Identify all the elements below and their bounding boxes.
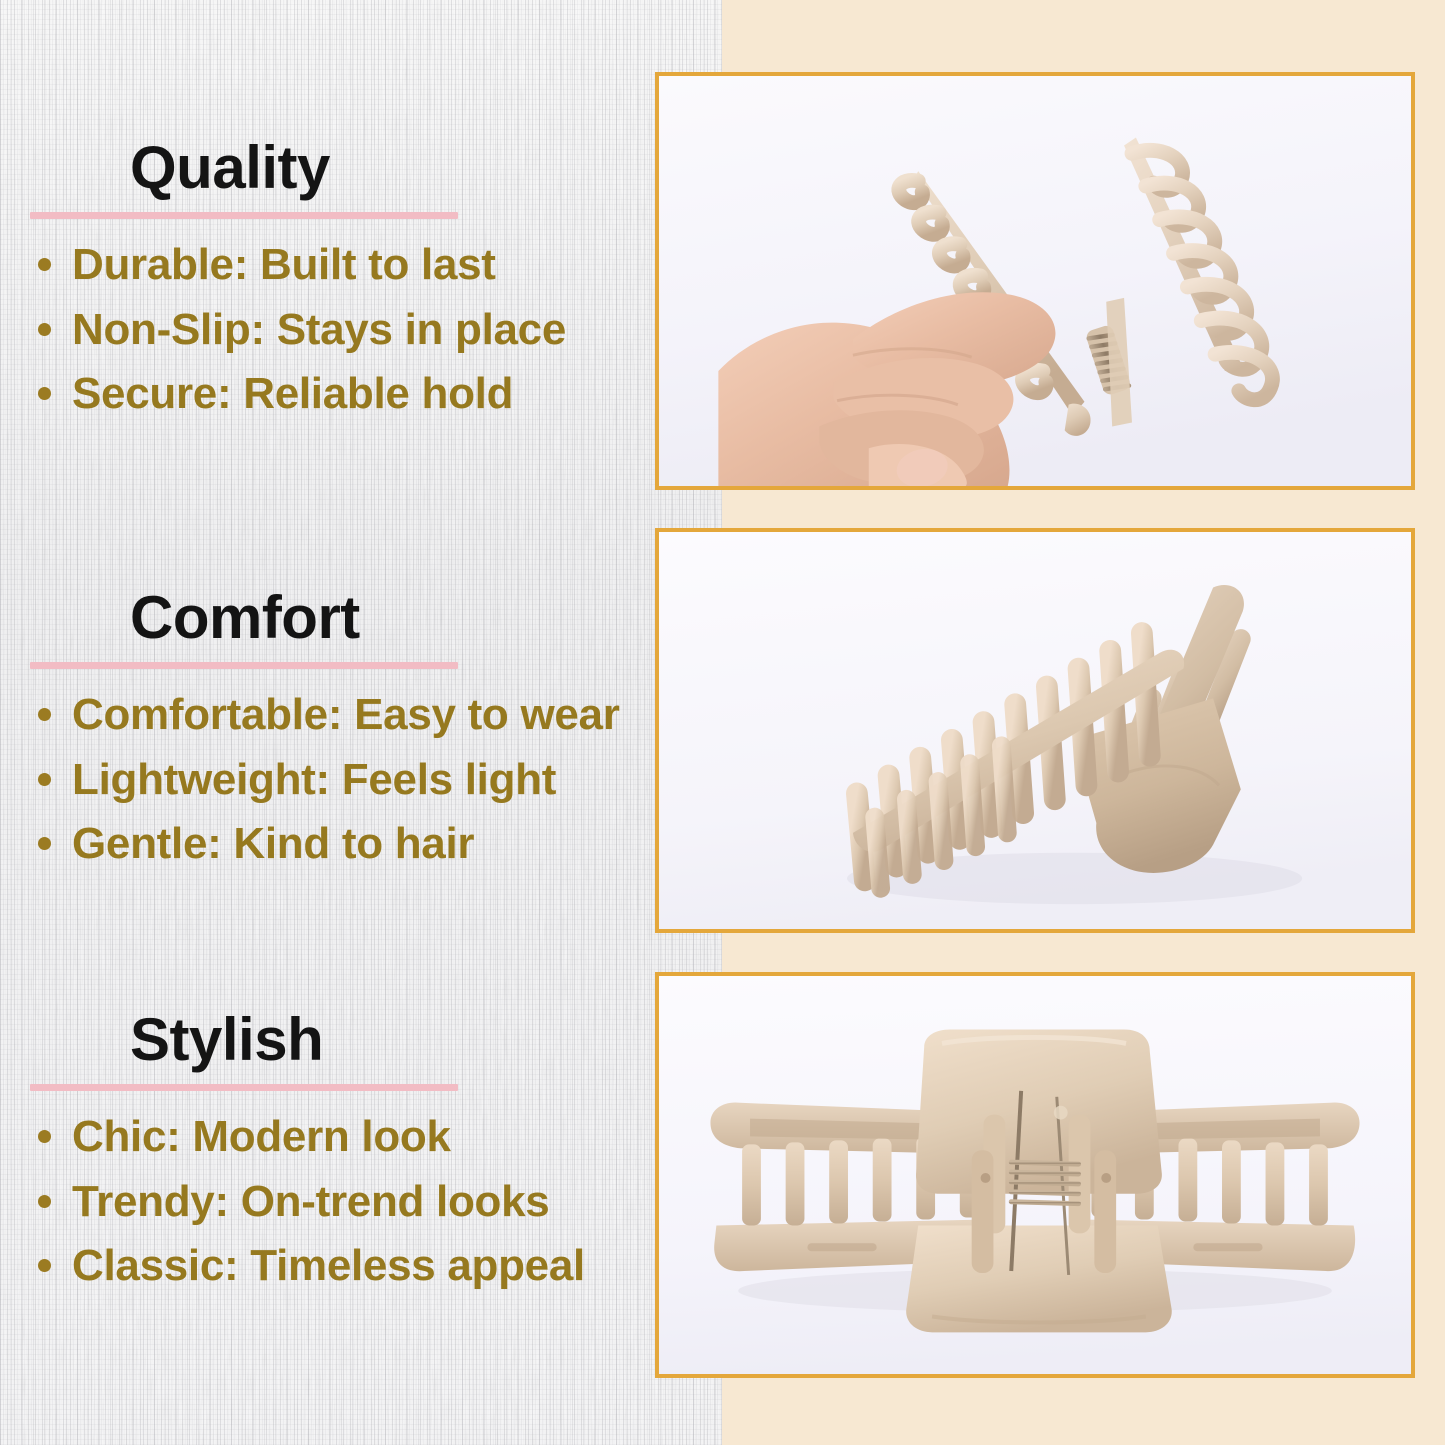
feature-item-text: Non-Slip: Stays in place xyxy=(72,306,566,354)
bullet-dot-icon xyxy=(38,1259,51,1272)
bullet-dot-icon xyxy=(38,1195,51,1208)
bullet-dot-icon xyxy=(38,323,51,336)
feature-item-text: Classic: Timeless appeal xyxy=(72,1242,585,1290)
list-item: Comfortable: Easy to wear xyxy=(0,691,660,739)
clip-upper-center-plate xyxy=(916,1030,1162,1194)
bullet-dot-icon xyxy=(38,708,51,721)
bullet-dot-icon xyxy=(38,387,51,400)
bullet-dot-icon xyxy=(38,1130,51,1143)
bullet-dot-icon xyxy=(38,773,51,786)
product-photo-clip-front-spring xyxy=(655,972,1415,1378)
feature-item-text: Durable: Built to last xyxy=(72,241,496,289)
list-item: Secure: Reliable hold xyxy=(0,370,660,418)
product-photo-hand-holding-clip xyxy=(655,72,1415,490)
list-item: Durable: Built to last xyxy=(0,241,660,289)
list-item: Trendy: On-trend looks xyxy=(0,1178,660,1226)
product-photo-clip-angled xyxy=(655,528,1415,933)
product-image-1 xyxy=(659,76,1411,486)
infographic-page: Quality Durable: Built to last Non-Slip:… xyxy=(0,0,1445,1445)
feature-list-quality: Durable: Built to last Non-Slip: Stays i… xyxy=(0,241,660,418)
feature-list-stylish: Chic: Modern look Trendy: On-trend looks… xyxy=(0,1113,660,1290)
feature-heading-quality: Quality xyxy=(0,138,660,198)
heading-divider-stylish xyxy=(30,1084,458,1091)
list-item: Lightweight: Feels light xyxy=(0,756,660,804)
feature-item-text: Gentle: Kind to hair xyxy=(72,820,474,868)
feature-block-comfort: Comfort Comfortable: Easy to wear Lightw… xyxy=(0,588,660,885)
product-image-3 xyxy=(659,976,1411,1374)
list-item: Gentle: Kind to hair xyxy=(0,820,660,868)
clip-lower-center-plate xyxy=(906,1225,1172,1332)
product-image-2 xyxy=(659,532,1411,929)
feature-item-text: Secure: Reliable hold xyxy=(72,370,513,418)
heading-divider-quality xyxy=(30,212,458,219)
feature-item-text: Chic: Modern look xyxy=(72,1113,451,1161)
feature-item-text: Comfortable: Easy to wear xyxy=(72,691,620,739)
feature-list-comfort: Comfortable: Easy to wear Lightweight: F… xyxy=(0,691,660,868)
list-item: Chic: Modern look xyxy=(0,1113,660,1161)
feature-item-text: Lightweight: Feels light xyxy=(72,756,556,804)
list-item: Non-Slip: Stays in place xyxy=(0,306,660,354)
feature-heading-stylish: Stylish xyxy=(0,1010,660,1070)
bullet-dot-icon xyxy=(38,258,51,271)
bullet-dot-icon xyxy=(38,837,51,850)
feature-block-stylish: Stylish Chic: Modern look Trendy: On-tre… xyxy=(0,1010,660,1307)
list-item: Classic: Timeless appeal xyxy=(0,1242,660,1290)
feature-block-quality: Quality Durable: Built to last Non-Slip:… xyxy=(0,138,660,435)
heading-divider-comfort xyxy=(30,662,458,669)
feature-item-text: Trendy: On-trend looks xyxy=(72,1178,549,1226)
feature-heading-comfort: Comfort xyxy=(0,588,660,648)
